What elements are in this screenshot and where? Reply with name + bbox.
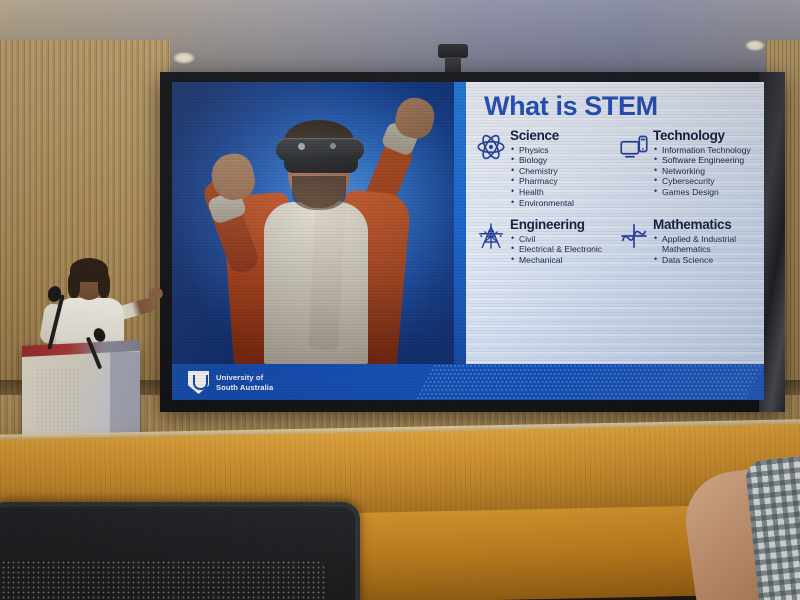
brand-text: University of South Australia — [216, 373, 273, 392]
computer-devices-icon — [619, 129, 649, 208]
ceiling-projector-mount — [438, 44, 468, 58]
slide-footer: University of South Australia — [172, 364, 764, 400]
category-title: Technology — [653, 129, 756, 143]
podium-speaker-grille — [36, 368, 80, 430]
sine-wave-icon — [619, 218, 649, 265]
category-science-list: Physics Biology Chemistry Pharmacy Healt… — [510, 145, 613, 209]
list-item: Information Technology — [653, 145, 756, 156]
slide-content-panel: What is STEM Sci — [466, 82, 764, 364]
slide-accent-strip — [454, 82, 466, 364]
list-item: Games Design — [653, 187, 756, 198]
university-brand: University of South Australia — [188, 371, 273, 394]
list-item: Data Science — [653, 255, 756, 266]
presentation-slide: What is STEM Sci — [172, 82, 764, 400]
category-science-body: Science Physics Biology Chemistry Pharma… — [510, 129, 613, 208]
list-item: Health — [510, 187, 613, 198]
list-item: Electrical & Electronic — [510, 244, 613, 255]
atom-icon — [476, 129, 506, 208]
category-engineering-body: Engineering Civil Electrical & Electroni… — [510, 218, 613, 265]
category-technology-body: Technology Information Technology Softwa… — [653, 129, 756, 208]
photo-vignette — [172, 82, 454, 364]
category-science: Science Physics Biology Chemistry Pharma… — [476, 129, 613, 208]
stem-category-grid: Science Physics Biology Chemistry Pharma… — [476, 129, 756, 265]
category-title: Science — [510, 129, 613, 143]
list-item: Chemistry — [510, 166, 613, 177]
slide-title: What is STEM — [484, 92, 756, 120]
list-item: Biology — [510, 155, 613, 166]
brand-line-2: South Australia — [216, 383, 273, 392]
ceiling-downlight — [745, 40, 765, 51]
slide-photo — [172, 82, 454, 364]
ceiling-downlight — [173, 52, 195, 64]
list-item: Civil — [510, 234, 613, 245]
category-engineering-list: Civil Electrical & Electronic Mechanical — [510, 234, 613, 266]
footer-halftone-pattern — [415, 364, 764, 400]
list-item: Physics — [510, 145, 613, 156]
category-title: Mathematics — [653, 218, 756, 232]
list-item: Networking — [653, 166, 756, 177]
category-mathematics-list: Applied & Industrial Mathematics Data Sc… — [653, 234, 756, 266]
category-technology: Technology Information Technology Softwa… — [619, 129, 756, 208]
category-technology-list: Information Technology Software Engineer… — [653, 145, 756, 198]
wall-display[interactable]: What is STEM Sci — [160, 72, 785, 412]
chair-frame — [0, 502, 360, 600]
mesh-office-chair — [0, 502, 360, 600]
category-mathematics: Mathematics Applied & Industrial Mathema… — [619, 218, 756, 265]
list-item: Applied & Industrial Mathematics — [653, 234, 756, 255]
category-mathematics-body: Mathematics Applied & Industrial Mathema… — [653, 218, 756, 265]
brand-line-1: University of — [216, 373, 273, 382]
presenter-with-podium — [18, 258, 168, 448]
presenter-glasses-icon — [75, 275, 103, 281]
list-item: Environmental — [510, 198, 613, 209]
list-item: Software Engineering — [653, 155, 756, 166]
category-engineering: Engineering Civil Electrical & Electroni… — [476, 218, 613, 265]
list-item: Mechanical — [510, 255, 613, 266]
category-title: Engineering — [510, 218, 613, 232]
power-pylon-icon — [476, 218, 506, 265]
lecture-hall-scene: What is STEM Sci — [0, 0, 800, 600]
list-item: Pharmacy — [510, 176, 613, 187]
unisa-shield-logo-icon — [188, 371, 209, 394]
list-item: Cybersecurity — [653, 176, 756, 187]
